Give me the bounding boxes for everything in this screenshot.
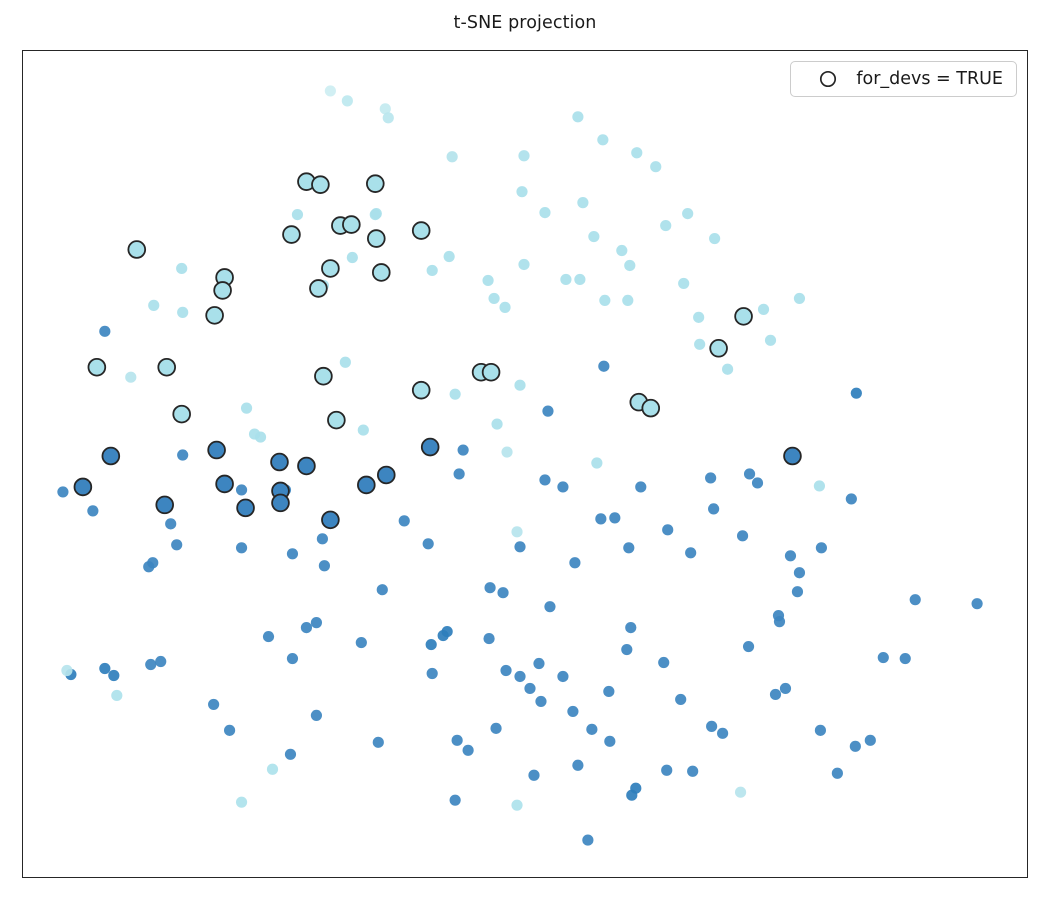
scatter-point <box>635 481 646 492</box>
tsne-scatter-figure: t-SNE projection for_devs = TRUE <box>0 0 1050 900</box>
scatter-point <box>267 764 278 775</box>
scatter-point <box>148 300 159 311</box>
open-circle-icon <box>818 69 838 89</box>
scatter-point <box>557 671 568 682</box>
scatter-point <box>675 694 686 705</box>
scatter-point <box>340 357 351 368</box>
scatter-point <box>744 468 755 479</box>
scatter-point <box>87 505 98 516</box>
scatter-point <box>560 274 571 285</box>
scatter-point <box>972 598 983 609</box>
scatter-point <box>483 364 500 381</box>
scatter-point <box>631 147 642 158</box>
scatter-point <box>367 175 384 192</box>
scatter-point <box>216 476 233 493</box>
scatter-point <box>370 209 381 220</box>
scatter-point <box>752 477 763 488</box>
scatter-point <box>356 637 367 648</box>
scatter-point <box>206 307 223 324</box>
scatter-point <box>342 95 353 106</box>
scatter-point <box>694 339 705 350</box>
scatter-point <box>368 230 385 247</box>
scatter-point <box>328 412 345 429</box>
scatter-point <box>343 216 360 233</box>
scatter-point <box>463 745 474 756</box>
scatter-point <box>586 724 597 735</box>
scatter-point <box>678 278 689 289</box>
scatter-point <box>450 389 461 400</box>
scatter-point <box>447 151 458 162</box>
scatter-point <box>661 765 672 776</box>
scatter-point <box>315 368 332 385</box>
legend[interactable]: for_devs = TRUE <box>790 61 1017 97</box>
scatter-point <box>770 689 781 700</box>
scatter-point <box>427 668 438 679</box>
scatter-point <box>177 307 188 318</box>
scatter-point <box>491 419 502 430</box>
scatter-point <box>539 474 550 485</box>
scatter-point <box>687 766 698 777</box>
scatter-point <box>815 725 826 736</box>
scatter-point <box>61 665 72 676</box>
scatter-point <box>263 631 274 642</box>
scatter-point <box>518 259 529 270</box>
scatter-point <box>572 760 583 771</box>
scatter-point <box>621 644 632 655</box>
scatter-point <box>208 699 219 710</box>
scatter-point <box>693 312 704 323</box>
scatter-point <box>625 622 636 633</box>
scatter-point <box>574 274 585 285</box>
scatter-point <box>851 388 862 399</box>
scatter-point <box>325 85 336 96</box>
scatter-point <box>603 686 614 697</box>
scatter-point <box>208 442 225 459</box>
scatter-point <box>572 111 583 122</box>
scatter-point <box>622 295 633 306</box>
scatter-point <box>708 503 719 514</box>
scatter-point <box>272 495 289 512</box>
scatter-point <box>658 657 669 668</box>
legend-marker-cell <box>802 69 854 89</box>
scatter-point <box>516 186 527 197</box>
page-title: t-SNE projection <box>0 13 1050 33</box>
scatter-point <box>595 513 606 524</box>
scatter-point <box>544 601 555 612</box>
scatter-point <box>319 560 330 571</box>
plot-area: for_devs = TRUE <box>22 50 1028 878</box>
scatter-point <box>285 749 296 760</box>
scatter-point <box>794 293 805 304</box>
scatter-point <box>488 293 499 304</box>
scatter-point <box>598 361 609 372</box>
scatter-point <box>569 557 580 568</box>
scatter-point <box>484 582 495 593</box>
scatter-point <box>865 735 876 746</box>
scatter-point <box>423 538 434 549</box>
scatter-point <box>143 561 154 572</box>
scatter-point <box>322 511 339 528</box>
scatter-point <box>535 696 546 707</box>
scatter-point <box>301 622 312 633</box>
scatter-point <box>311 617 322 628</box>
scatter-point <box>514 380 525 391</box>
scatter-point <box>450 795 461 806</box>
scatter-point <box>514 671 525 682</box>
scatter-point <box>241 403 252 414</box>
scatter-point <box>177 449 188 460</box>
scatter-point <box>780 683 791 694</box>
scatter-point <box>609 512 620 523</box>
scatter-point <box>773 610 784 621</box>
scatter-point <box>155 656 166 667</box>
scatter-point <box>717 728 728 739</box>
scatter-point <box>322 260 339 277</box>
scatter-point <box>878 652 889 663</box>
scatter-point <box>497 587 508 598</box>
scatter-point <box>311 710 322 721</box>
scatter-point <box>557 481 568 492</box>
scatter-point <box>709 233 720 244</box>
scatter-point <box>706 721 717 732</box>
scatter-point <box>99 663 110 674</box>
scatter-point <box>214 282 231 299</box>
scatter-point <box>758 304 769 315</box>
scatter-point <box>413 382 430 399</box>
scatter-point <box>312 176 329 193</box>
scatter-point <box>292 209 303 220</box>
scatter-point <box>482 275 493 286</box>
scatter-point <box>171 539 182 550</box>
scatter-point <box>626 790 637 801</box>
scatter-point <box>236 797 247 808</box>
scatter-point <box>444 251 455 262</box>
scatter-point <box>792 586 803 597</box>
scatter-point <box>102 448 119 465</box>
scatter-point <box>660 220 671 231</box>
scatter-point <box>682 208 693 219</box>
scatter-point <box>662 524 673 535</box>
scatter-point <box>642 400 659 417</box>
scatter-point <box>383 112 394 123</box>
scatter-point <box>577 197 588 208</box>
scatter-point <box>582 835 593 846</box>
scatter-point <box>483 633 494 644</box>
scatter-point <box>422 439 439 456</box>
scatter-point <box>591 457 602 468</box>
scatter-point <box>604 736 615 747</box>
scatter-point <box>88 359 105 376</box>
scatter-point <box>271 454 288 471</box>
scatter-point <box>624 260 635 271</box>
scatter-point <box>910 594 921 605</box>
scatter-point <box>165 518 176 529</box>
scatter-point <box>518 150 529 161</box>
scatter-point <box>524 683 535 694</box>
scatter-point <box>784 448 801 465</box>
scatter-point <box>442 626 453 637</box>
scatter-point <box>722 364 733 375</box>
scatter-point <box>900 653 911 664</box>
scatter-point <box>317 533 328 544</box>
series-for-devs-false <box>57 85 982 845</box>
scatter-point <box>846 493 857 504</box>
scatter-point <box>539 207 550 218</box>
scatter-point <box>156 497 173 514</box>
scatter-point <box>283 226 300 243</box>
scatter-point <box>765 335 776 346</box>
scatter-point <box>500 665 511 676</box>
series-for-devs-true <box>74 173 800 528</box>
scatter-point <box>377 584 388 595</box>
scatter-point <box>176 263 187 274</box>
scatter-point <box>111 690 122 701</box>
scatter-point <box>347 252 358 263</box>
scatter-point <box>567 706 578 717</box>
scatter-point <box>378 467 395 484</box>
scatter-point <box>743 641 754 652</box>
scatter-point <box>454 468 465 479</box>
scatter-point <box>599 295 610 306</box>
scatter-point <box>814 480 825 491</box>
scatter-point <box>249 428 260 439</box>
scatter-point <box>650 161 661 172</box>
scatter-point <box>794 567 805 578</box>
scatter-point <box>125 372 136 383</box>
scatter-point <box>145 659 156 670</box>
scatter-point <box>399 515 410 526</box>
scatter-point <box>528 770 539 781</box>
scatter-point <box>427 265 438 276</box>
scatter-point <box>452 735 463 746</box>
scatter-point <box>511 526 522 537</box>
scatter-point <box>287 653 298 664</box>
scatter-point <box>623 542 634 553</box>
scatter-point <box>310 280 327 297</box>
scatter-point <box>298 458 315 475</box>
scatter-point <box>850 741 861 752</box>
scatter-point <box>173 406 190 423</box>
scatter-point <box>224 725 235 736</box>
scatter-point <box>597 134 608 145</box>
scatter-point <box>501 446 512 457</box>
scatter-point <box>236 484 247 495</box>
scatter-point <box>588 231 599 242</box>
scatter-point <box>108 670 119 681</box>
scatter-point <box>499 302 510 313</box>
scatter-point <box>237 500 254 517</box>
scatter-point <box>542 406 553 417</box>
scatter-point <box>616 245 627 256</box>
scatter-point <box>832 768 843 779</box>
scatter-point <box>533 658 544 669</box>
scatter-point <box>426 639 437 650</box>
scatter-point <box>785 550 796 561</box>
scatter-point <box>128 241 145 258</box>
scatter-point <box>373 264 390 281</box>
scatter-point <box>458 444 469 455</box>
scatter-point <box>710 340 727 357</box>
scatter-point <box>490 723 501 734</box>
scatter-point <box>735 787 746 798</box>
scatter-point <box>705 472 716 483</box>
legend-label-for-devs: for_devs = TRUE <box>854 69 1003 89</box>
scatter-point <box>413 222 430 239</box>
scatter-point <box>735 308 752 325</box>
scatter-point <box>99 326 110 337</box>
scatter-point <box>158 359 175 376</box>
scatter-point <box>236 542 247 553</box>
scatter-point <box>358 477 375 494</box>
scatter-point <box>737 530 748 541</box>
scatter-point <box>511 800 522 811</box>
scatter-point <box>685 547 696 558</box>
scatter-point <box>74 479 91 496</box>
scatter-point <box>358 424 369 435</box>
scatter-point <box>287 548 298 559</box>
scatter-point <box>57 486 68 497</box>
scatter-point <box>514 541 525 552</box>
scatter-point <box>373 737 384 748</box>
scatter-point <box>816 542 827 553</box>
scatter-points-layer <box>23 51 1027 877</box>
